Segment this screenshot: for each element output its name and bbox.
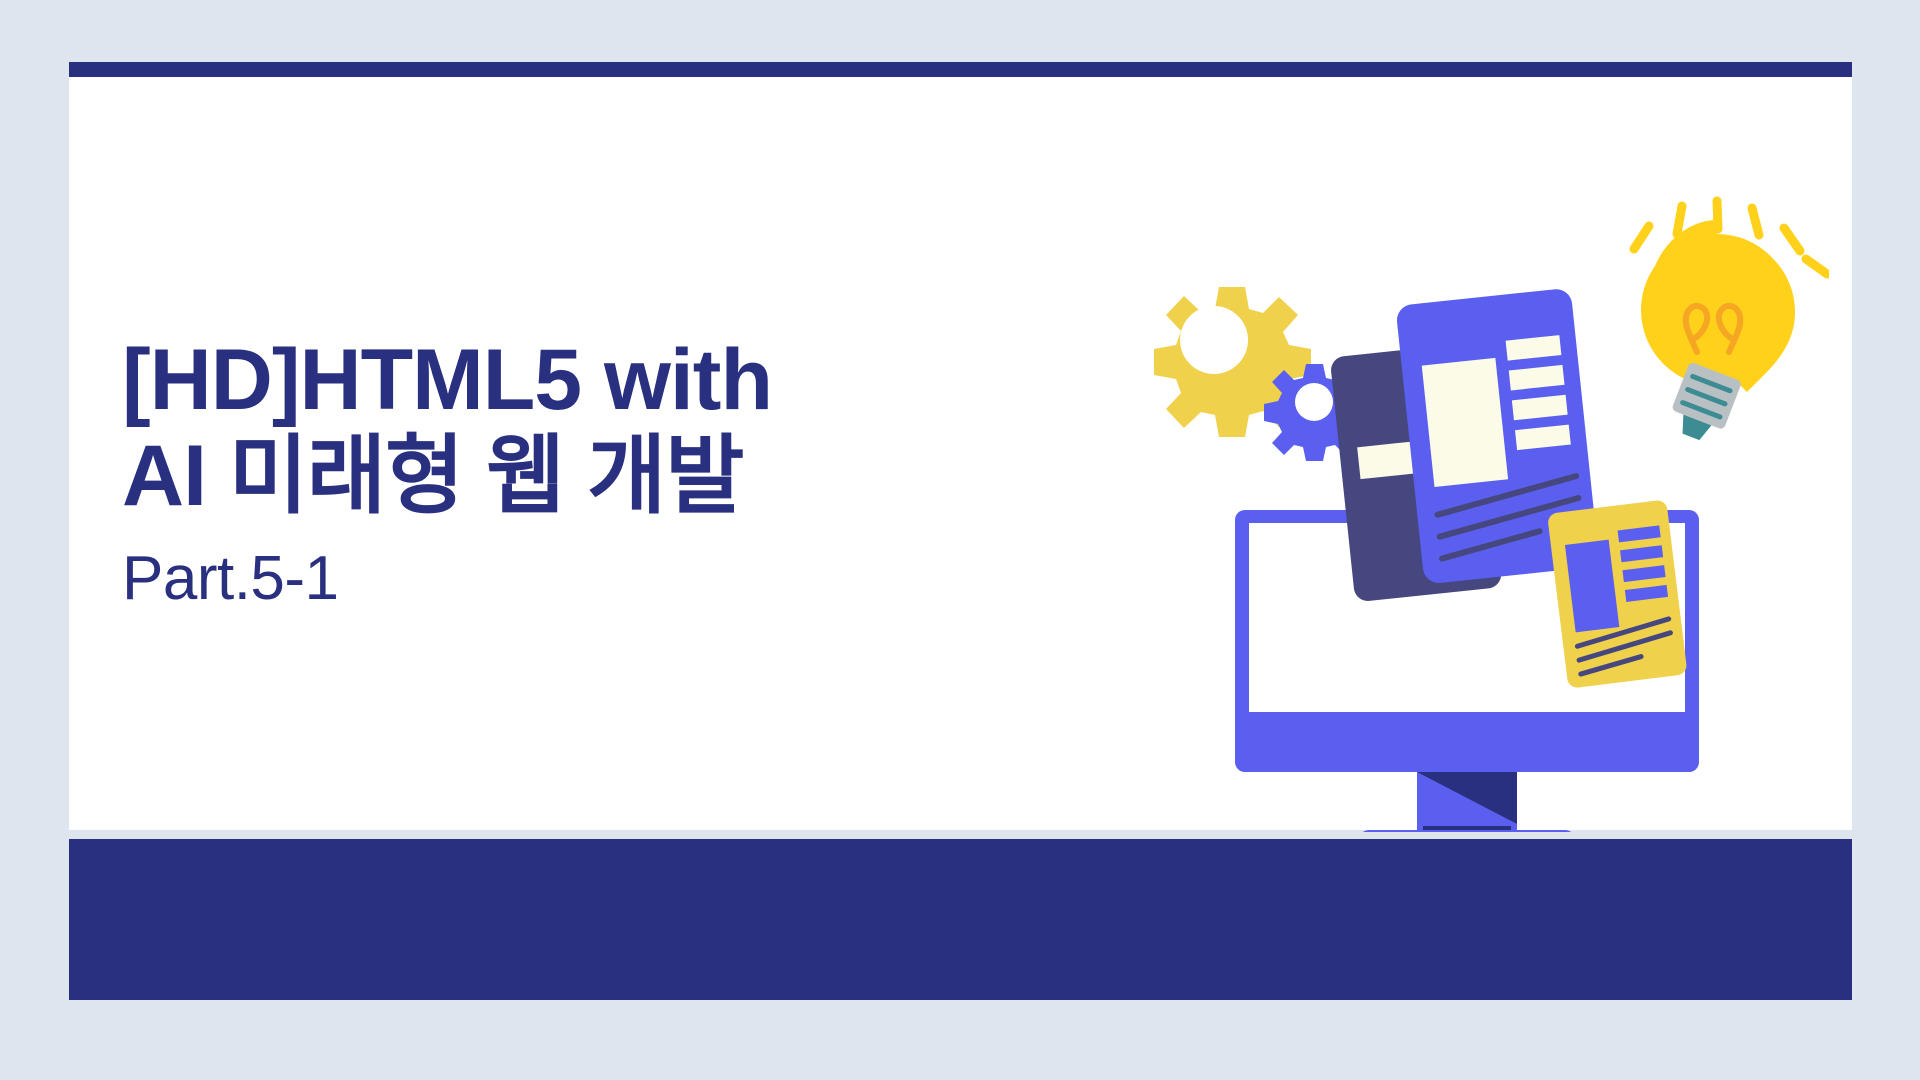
slide: [HD]HTML5 with AI 미래형 웹 개발 Part.5-1: [69, 62, 1852, 1000]
slide-top-bar: [69, 62, 1852, 77]
page-subtitle: Part.5-1: [122, 543, 1042, 614]
slide-bottom-bar: [69, 839, 1852, 1000]
page-title-line-2: AI 미래형 웹 개발: [122, 428, 1042, 524]
monitor-base: [1359, 830, 1575, 832]
page-title-line-1: [HD]HTML5 with: [122, 332, 1042, 428]
web-development-illustration: [1109, 192, 1829, 832]
lightbulb-icon: [1634, 201, 1827, 447]
title-block: [HD]HTML5 with AI 미래형 웹 개발 Part.5-1: [122, 332, 1042, 614]
document-card-yellow: [1547, 499, 1688, 688]
